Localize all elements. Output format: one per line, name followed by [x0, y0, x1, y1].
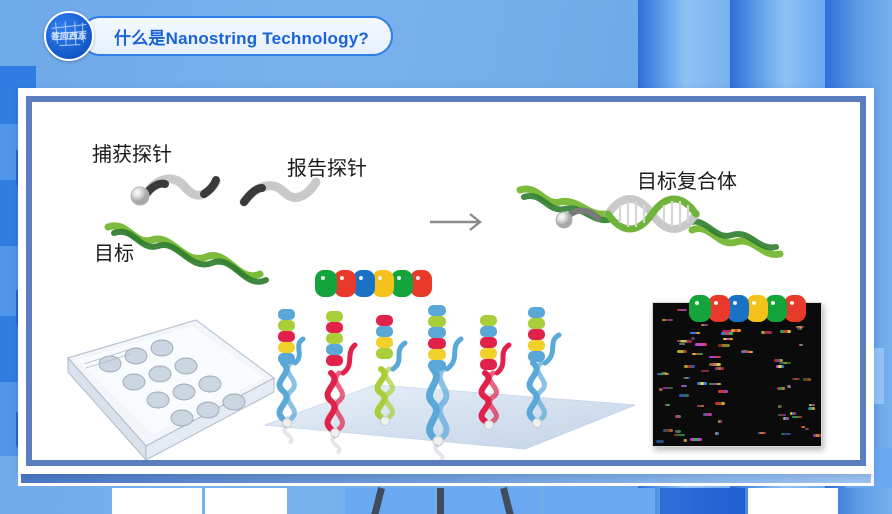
fluorescence-dot: [691, 337, 695, 340]
fluorescence-dot: [805, 428, 809, 430]
immobilized-barcode-array: [247, 297, 647, 460]
capture-probe-biotin-bead: [131, 187, 149, 205]
barcode-bead: [689, 295, 711, 322]
fluorescence-dot: [778, 405, 782, 408]
fluorescence-dot: [776, 365, 784, 368]
fluorescence-dot: [697, 405, 704, 407]
barcode-bead: [372, 270, 394, 297]
barcode-bead: [410, 270, 432, 297]
fluorescence-dot: [675, 415, 681, 418]
fluorescence-dot: [683, 439, 687, 442]
reaction-arrow: [430, 214, 480, 230]
probe-diagram-svg: [32, 102, 860, 302]
barcode-unit-1: [278, 309, 303, 428]
fluorescence-dot: [679, 343, 685, 345]
barcode-bead: [391, 270, 413, 297]
fluorescence-dot: [709, 356, 721, 358]
logo-glyph-text: 答问西东: [51, 32, 88, 41]
fluorescence-dot: [741, 351, 753, 353]
reporter-probe-strand-dark: [244, 188, 262, 202]
reporter-probe-barcode: [315, 270, 432, 297]
fluorescence-dot: [677, 350, 687, 353]
fluorescence-dot: [692, 353, 703, 355]
fluorescence-dot: [657, 373, 669, 375]
fluorescence-dot: [710, 363, 720, 366]
fluorescence-dot: [783, 417, 789, 420]
qa-logo-icon: 答问西东: [44, 11, 94, 61]
fluorescence-dot: [715, 367, 724, 370]
fluorescence-dot: [677, 340, 687, 342]
fluorescence-dot: [677, 309, 687, 311]
barcode-bead: [784, 295, 806, 322]
slide-screenshot: 答问西东 什么是Nanostring Technology? 捕获探针 报告探针…: [0, 0, 892, 514]
fluorescence-dot: [803, 378, 811, 381]
barcode-bead: [727, 295, 749, 322]
fluorescence-dot: [809, 404, 815, 406]
fluorescence-dot: [684, 365, 695, 368]
slide-title-pill: 什么是Nanostring Technology?: [80, 16, 393, 56]
complex-biotin-bead: [556, 212, 572, 228]
fluorescence-dot: [723, 338, 733, 340]
fluorescence-dot: [761, 331, 772, 334]
background-panel-blue-4: [660, 488, 745, 514]
fluorescence-dot: [674, 434, 685, 436]
fluorescence-dot: [799, 344, 803, 346]
barcode-bead: [334, 270, 356, 297]
fluorescence-dot: [656, 440, 664, 443]
fluorescence-dot: [701, 324, 708, 326]
fluorescence-dot: [715, 432, 719, 435]
page-title: 什么是Nanostring Technology?: [114, 24, 369, 49]
fluorescence-dot: [662, 319, 673, 321]
fluorescence-dot: [792, 416, 802, 418]
fluorescence-dot: [697, 382, 707, 385]
barcode-bead: [353, 270, 375, 297]
fluorescence-dot: [718, 420, 722, 423]
fluorescence-dot: [701, 370, 709, 372]
background-panel-blue-2: [440, 488, 540, 514]
fluorescence-dot: [790, 412, 796, 415]
capture-probe-strand-dark-b: [204, 180, 216, 194]
background-panel-blue-1: [345, 488, 435, 514]
fluorescence-dot: [792, 378, 800, 380]
fluorescence-dot: [675, 430, 681, 433]
easel-leg-center: [437, 488, 444, 514]
fluorescence-dot: [781, 433, 791, 435]
target-complex-barcode: [689, 295, 806, 322]
slide-card-content: 捕获探针 报告探针 目标 目标复合体: [32, 102, 860, 460]
fluorescence-dot: [797, 327, 802, 330]
fluorescence-dot: [715, 402, 725, 405]
fluorescence-dot: [690, 332, 700, 334]
fluorescence-dot: [690, 438, 702, 441]
fluorescence-dot: [681, 385, 687, 387]
barcode-bead: [315, 270, 337, 297]
fluorescence-dot: [695, 343, 707, 346]
fluorescence-dot: [709, 383, 721, 385]
background-panel-2: [205, 488, 287, 514]
fluorescence-dot: [758, 432, 766, 434]
fluorescence-dot: [663, 429, 673, 432]
fluorescence-dot: [718, 344, 730, 347]
slide-card-frame: 捕获探针 报告探针 目标 目标复合体: [26, 96, 866, 466]
fluorescence-barcode-readout: [652, 302, 822, 447]
fluorescence-dot: [718, 390, 728, 393]
fluorescence-dot: [813, 434, 822, 437]
fluorescence-dot: [703, 413, 712, 416]
fluorescence-dot: [721, 332, 733, 335]
slide-card: 捕获探针 报告探针 目标 目标复合体: [18, 88, 874, 474]
fluorescence-dot: [679, 394, 689, 397]
fluorescence-dot: [780, 330, 791, 333]
background-panel-3: [748, 488, 838, 514]
fluorescence-dot: [787, 385, 791, 388]
barcode-bead: [708, 295, 730, 322]
fluorescence-dot: [665, 404, 670, 406]
barcode-bead: [746, 295, 768, 322]
background-panel-blue-3: [545, 488, 655, 514]
background-panel-1: [112, 488, 202, 514]
slide-header: 答问西东 什么是Nanostring Technology?: [44, 14, 393, 58]
fluorescence-dot: [778, 414, 786, 416]
fluorescence-dot: [683, 377, 690, 379]
target-strand-dark: [114, 232, 266, 282]
fluorescence-dot: [779, 362, 791, 364]
fluorescence-dot: [663, 387, 673, 389]
fluorescence-dot: [777, 387, 785, 390]
fluorescence-dot: [808, 407, 815, 410]
barcode-bead: [765, 295, 787, 322]
